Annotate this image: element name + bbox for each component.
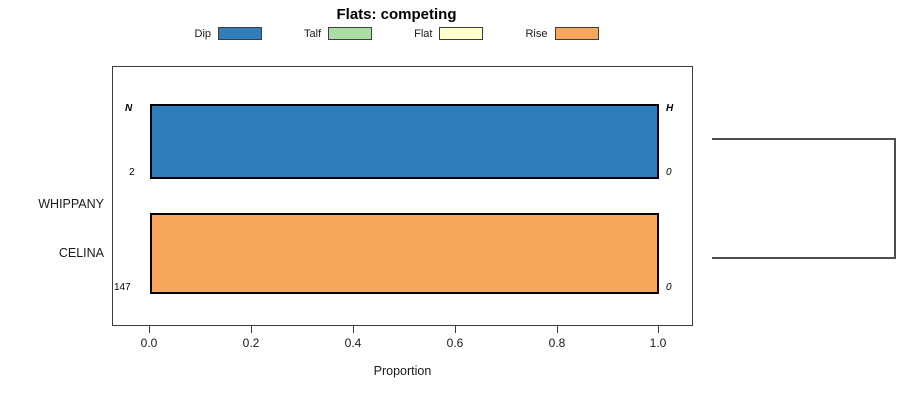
plot-area: N 2 H 0 147 0 xyxy=(112,66,693,326)
annot-left-value-celina: 147 xyxy=(114,282,131,293)
dendrogram-svg xyxy=(700,66,900,326)
legend-entry-dip[interactable]: Dip xyxy=(195,27,263,40)
bar-segment-rise[interactable] xyxy=(150,213,659,294)
x-tick-mark-5 xyxy=(658,326,659,333)
bar-track-celina xyxy=(150,213,659,294)
x-tick-label-0: 0.0 xyxy=(141,336,158,350)
y-axis-labels: WHIPPANY CELINA xyxy=(0,66,104,326)
annot-right-value-whippany: 0 xyxy=(666,167,672,178)
legend-swatch-flat xyxy=(439,27,483,40)
annot-left-value-whippany: 2 xyxy=(129,167,135,178)
x-tick-mark-3 xyxy=(455,326,456,333)
x-tick-mark-4 xyxy=(557,326,558,333)
legend-entry-flat[interactable]: Flat xyxy=(414,27,483,40)
y-axis-label-celina: CELINA xyxy=(4,246,104,260)
legend-entry-talf[interactable]: Talf xyxy=(304,27,372,40)
x-tick-label-2: 0.4 xyxy=(345,336,362,350)
legend-label-flat: Flat xyxy=(414,28,432,40)
y-axis-label-whippany: WHIPPANY xyxy=(4,197,104,211)
legend-swatch-dip xyxy=(218,27,262,40)
bar-track-whippany xyxy=(150,104,659,179)
annot-left-header-whippany: N xyxy=(125,103,132,114)
x-axis-title: Proportion xyxy=(112,364,693,378)
bar-segment-dip[interactable] xyxy=(150,104,659,179)
bar-row-celina: 147 0 xyxy=(113,213,692,294)
x-axis: 0.0 0.2 0.4 0.6 0.8 1.0 xyxy=(112,326,693,366)
x-tick-label-4: 0.8 xyxy=(549,336,566,350)
chart-title: Flats: competing xyxy=(0,6,793,23)
legend-label-talf: Talf xyxy=(304,28,321,40)
chart-canvas: Flats: competing Dip Talf Flat Rise WHIP… xyxy=(0,0,900,400)
dendrogram xyxy=(700,66,900,326)
legend-label-rise: Rise xyxy=(525,28,547,40)
dendrogram-cluster-join xyxy=(712,138,896,259)
legend-swatch-rise xyxy=(555,27,599,40)
legend-entry-rise[interactable]: Rise xyxy=(525,27,598,40)
x-tick-mark-1 xyxy=(251,326,252,333)
x-tick-label-1: 0.2 xyxy=(243,336,260,350)
chart-legend: Dip Talf Flat Rise xyxy=(0,27,793,40)
x-tick-label-3: 0.6 xyxy=(447,336,464,350)
annot-right-value-celina: 0 xyxy=(666,282,672,293)
legend-label-dip: Dip xyxy=(195,28,212,40)
annot-right-header-whippany: H xyxy=(666,103,673,114)
x-tick-mark-0 xyxy=(149,326,150,333)
legend-swatch-talf xyxy=(328,27,372,40)
x-tick-mark-2 xyxy=(353,326,354,333)
bar-row-whippany: N 2 H 0 xyxy=(113,104,692,179)
x-tick-label-5: 1.0 xyxy=(650,336,667,350)
